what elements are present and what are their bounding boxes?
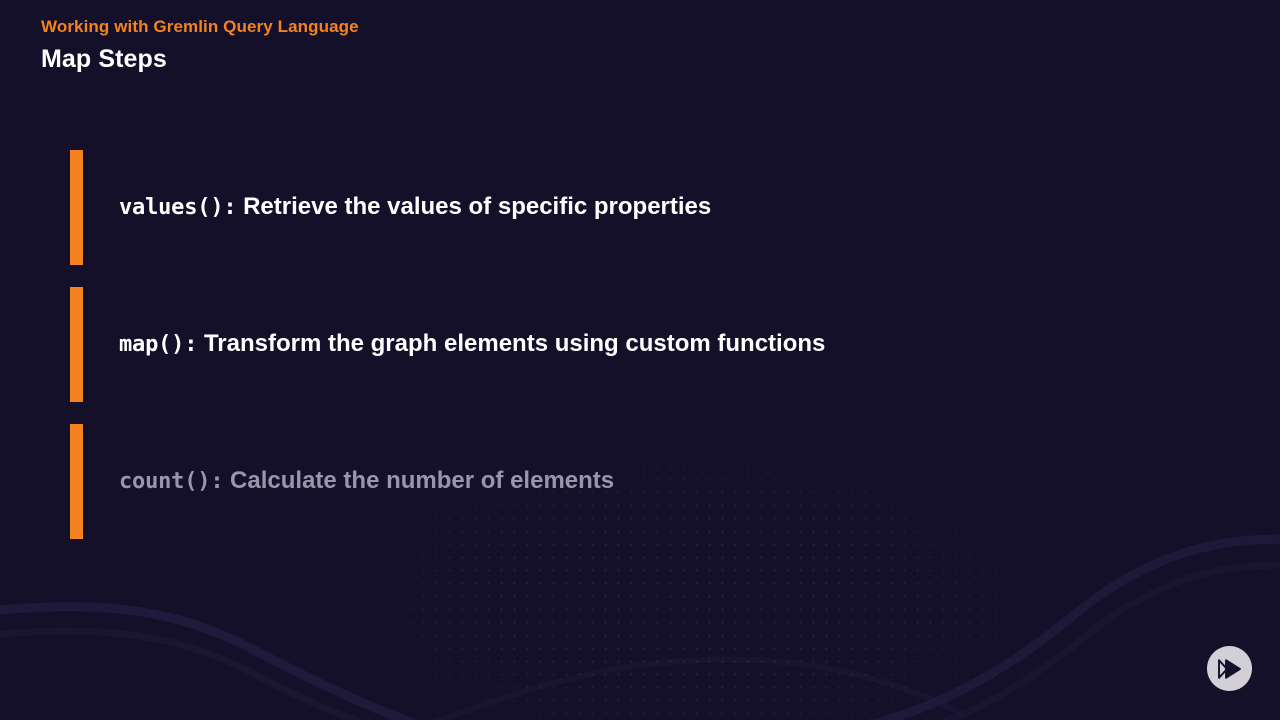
- list-item: count(): Calculate the number of element…: [70, 424, 1220, 539]
- step-description: Calculate the number of elements: [223, 467, 614, 494]
- list-item: values(): Retrieve the values of specifi…: [70, 150, 1220, 265]
- step-name: count():: [119, 469, 223, 494]
- list-item-text: count(): Calculate the number of element…: [119, 465, 614, 498]
- step-name: values():: [119, 195, 236, 220]
- list-item-text: map(): Transform the graph elements usin…: [119, 328, 825, 361]
- play-logo-icon: [1216, 657, 1244, 681]
- page-title: Map Steps: [41, 43, 359, 76]
- list-item: map(): Transform the graph elements usin…: [70, 287, 1220, 402]
- slide-canvas: Working with Gremlin Query Language Map …: [0, 0, 1280, 720]
- accent-bar: [70, 150, 83, 265]
- bullet-list: values(): Retrieve the values of specifi…: [70, 150, 1220, 561]
- step-description: Transform the graph elements using custo…: [197, 330, 825, 357]
- course-eyebrow: Working with Gremlin Query Language: [41, 14, 359, 40]
- accent-bar: [70, 287, 83, 402]
- accent-bar: [70, 424, 83, 539]
- step-description: Retrieve the values of specific properti…: [236, 193, 711, 220]
- play-logo-button[interactable]: [1207, 646, 1252, 691]
- step-name: map():: [119, 332, 197, 357]
- list-item-text: values(): Retrieve the values of specifi…: [119, 191, 711, 224]
- slide-header: Working with Gremlin Query Language Map …: [41, 14, 359, 76]
